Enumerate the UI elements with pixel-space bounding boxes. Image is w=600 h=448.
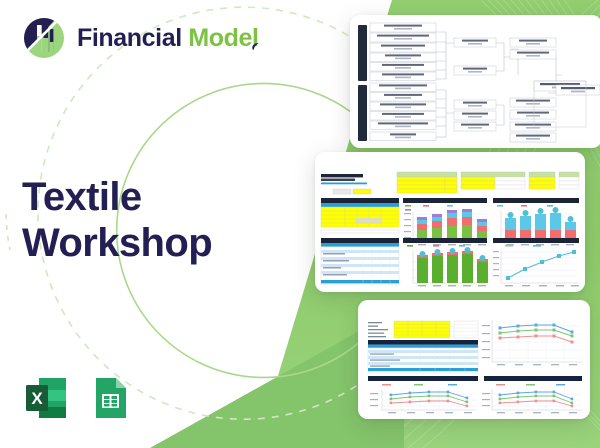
- roe-node: [556, 85, 600, 95]
- google-sheets-icon[interactable]: [86, 374, 134, 422]
- headline-line-2: Workshop: [22, 220, 212, 266]
- microsoft-excel-icon[interactable]: X: [22, 374, 70, 422]
- financial-model-circle-logo: [22, 16, 66, 60]
- brand-word-financial: Financial: [77, 24, 182, 52]
- svg-text:X: X: [31, 389, 43, 408]
- headline-line-1: Textile: [22, 174, 212, 220]
- poster-canvas: Financial Model Textile Workshop X: [0, 0, 600, 448]
- balance-sheet-rows: [370, 83, 436, 141]
- summary-kpi-table: [529, 172, 579, 189]
- format-icons: X: [22, 374, 134, 422]
- brand-word-model: Model: [188, 26, 258, 51]
- statements-content: [358, 300, 590, 419]
- arc-dash-accent: [6, 214, 10, 250]
- dupont-analysis-card[interactable]: [350, 15, 600, 148]
- dupont-mid-nodes: [454, 38, 496, 131]
- brand-lockup: Financial Model: [22, 16, 259, 60]
- assumptions-table: [397, 172, 457, 193]
- income-statement-rows: [370, 23, 436, 81]
- dashboard-svg: [315, 152, 585, 292]
- cost-elements-table: [321, 238, 399, 285]
- statements-svg: [358, 300, 590, 419]
- income-statement-band: [358, 25, 367, 81]
- income-statement-table: [368, 340, 478, 373]
- dupont-tree-svg: [350, 15, 600, 148]
- dashboard-content: [315, 152, 585, 292]
- financial-dashboard-card[interactable]: [315, 152, 585, 292]
- financial-statements-card[interactable]: [358, 300, 590, 419]
- page-title: Textile Workshop: [22, 174, 212, 266]
- brand-wordmark: Financial Model: [77, 26, 259, 51]
- unit-economics-table: [461, 172, 525, 189]
- balance-sheet-band: [358, 85, 367, 141]
- leaf-accent-icon: [251, 31, 260, 40]
- dupont-diagram: [350, 15, 600, 148]
